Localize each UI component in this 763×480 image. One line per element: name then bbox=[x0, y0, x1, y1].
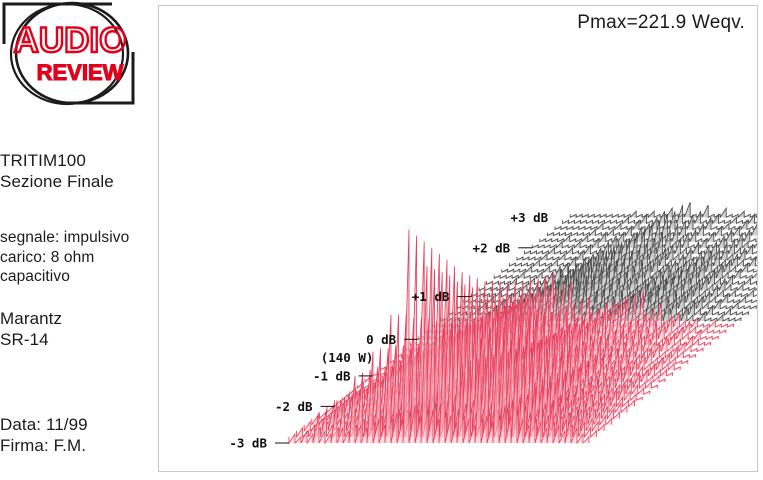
model-name: TRITIM100 bbox=[0, 150, 114, 171]
model-section: Sezione Finale bbox=[0, 171, 114, 192]
audio-review-logo: AUDIO REVIEW bbox=[0, 0, 150, 112]
axis-tick-label: +3 dB bbox=[511, 210, 549, 225]
test-date: Data: 11/99 bbox=[0, 414, 88, 435]
waterfall-traces bbox=[289, 202, 757, 443]
info-sidebar: AUDIO REVIEW TRITIM100 Sezione Finale se… bbox=[0, 0, 155, 480]
logo-text-review: REVIEW bbox=[37, 60, 124, 85]
axis-tick-label: +2 dB bbox=[473, 240, 511, 255]
axis-tick-label: 0 dB bbox=[366, 332, 397, 347]
signal-type: segnale: impulsivo bbox=[0, 228, 129, 248]
device-brand: Marantz bbox=[0, 308, 62, 329]
device-block: Marantz SR-14 bbox=[0, 308, 62, 350]
load-impedance: carico: 8 ohm bbox=[0, 248, 129, 268]
logo-artwork: AUDIO REVIEW bbox=[0, 0, 150, 112]
chart-panel: Pmax=221.9 Weqv. +3 dB+2 dB+1 dB0 dB(140… bbox=[158, 5, 758, 472]
axis-tick-label: -1 dB bbox=[313, 368, 351, 383]
model-block: TRITIM100 Sezione Finale bbox=[0, 150, 114, 192]
axis-tick-label: +1 dB bbox=[412, 289, 450, 304]
axis-tick-label: -2 dB bbox=[275, 399, 313, 414]
device-model: SR-14 bbox=[0, 329, 62, 350]
load-character: capacitivo bbox=[0, 267, 129, 287]
screenshot-root: AUDIO REVIEW TRITIM100 Sezione Finale se… bbox=[0, 0, 763, 480]
axis-tick-label: -3 dB bbox=[229, 436, 267, 451]
waterfall-plot: +3 dB+2 dB+1 dB0 dB(140 W)-1 dB-2 dB-3 d… bbox=[159, 6, 757, 471]
test-signature: Firma: F.M. bbox=[0, 435, 88, 456]
axis-tick-label: (140 W) bbox=[321, 350, 374, 365]
test-meta-block: Data: 11/99 Firma: F.M. bbox=[0, 414, 88, 456]
signal-conditions-block: segnale: impulsivo carico: 8 ohm capacit… bbox=[0, 228, 129, 287]
logo-text-audio: AUDIO bbox=[14, 21, 127, 60]
